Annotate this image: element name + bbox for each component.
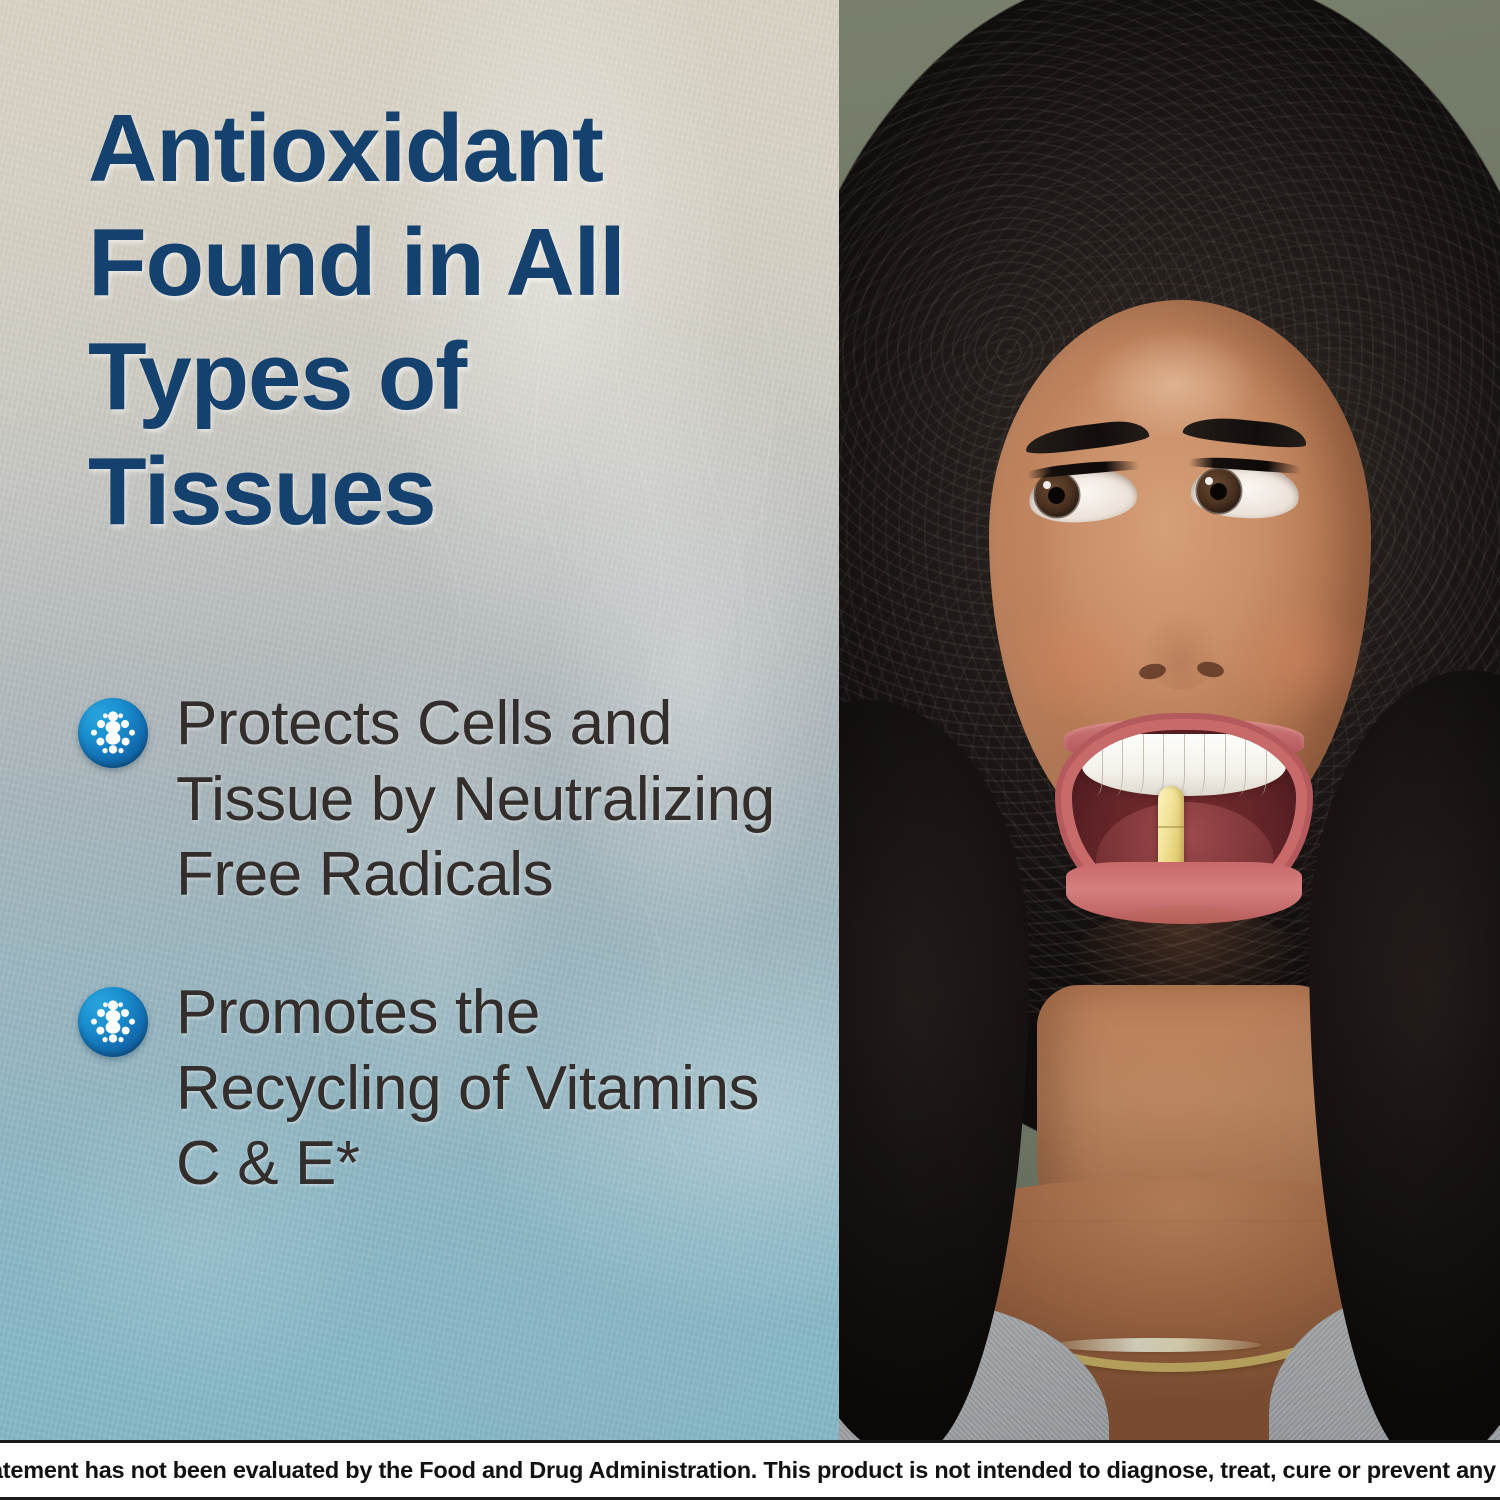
benefit-item-1: Protects Cells and Tissue by Neutralizin… (78, 686, 778, 913)
fda-disclaimer-text: *This statement has not been evaluated b… (0, 1457, 1500, 1484)
molecule-cluster-icon (78, 698, 148, 768)
benefit-text: Protects Cells and Tissue by Neutralizin… (176, 686, 778, 913)
headline-line-2: Found in All (88, 206, 818, 320)
cheek-left (1007, 600, 1147, 720)
benefit-text: Promotes the Recycling of Vitamins C & E… (176, 975, 778, 1202)
marketing-image: Antioxidant Found in All Types of Tissue… (0, 0, 1500, 1500)
necklace-highlight (1051, 1338, 1261, 1352)
headline-line-3: Types of (88, 320, 818, 434)
pupil-right (1210, 483, 1227, 500)
pupil-left (1048, 487, 1065, 504)
cheek-right (1229, 598, 1369, 718)
upper-teeth (1082, 734, 1286, 796)
headline-line-4: Tissues (88, 435, 818, 549)
benefit-item-2: Promotes the Recycling of Vitamins C & E… (78, 975, 778, 1202)
headline-line-1: Antioxidant (88, 92, 818, 206)
molecule-cluster-icon (78, 987, 148, 1057)
product-lifestyle-photo (839, 0, 1500, 1440)
benefit-list: Protects Cells and Tissue by Neutralizin… (78, 686, 778, 1202)
eye-glint-left (1043, 481, 1051, 489)
eye-glint-right (1205, 477, 1213, 485)
fda-disclaimer-bar: *This statement has not been evaluated b… (0, 1440, 1500, 1500)
page-title: Antioxidant Found in All Types of Tissue… (88, 92, 818, 549)
left-content-panel: Antioxidant Found in All Types of Tissue… (0, 0, 839, 1440)
